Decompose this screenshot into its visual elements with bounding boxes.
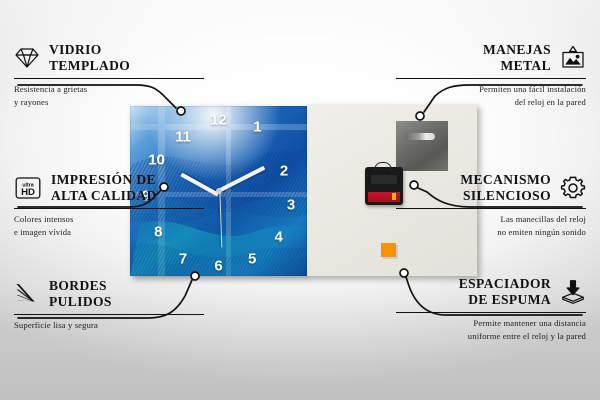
callout-manejas-metal: MANEJAS METAL Permiten una fácil instala… (396, 42, 586, 108)
callout-title-line2: PULIDOS (49, 294, 112, 310)
callout-espaciador-espuma: ESPACIADOR DE ESPUMA Permite mantener un… (396, 276, 586, 342)
callout-title-line1: MECANISMO (460, 172, 551, 188)
callout-header: ESPACIADOR DE ESPUMA (396, 276, 586, 308)
callout-desc-line1: Permite mantener una distancia (396, 317, 586, 329)
callout-mecanismo-silencioso: MECANISMO SILENCIOSO Las manecillas del … (396, 172, 586, 238)
callout-header: MECANISMO SILENCIOSO (396, 172, 586, 204)
callout-title-line1: VIDRIO (49, 42, 130, 58)
ultra-hd-icon: ultra HD (14, 175, 42, 201)
callout-divider (396, 208, 586, 210)
callout-header: ultra HD IMPRESIÓN DE ALTA CALIDAD (14, 172, 204, 204)
callout-desc-line2: no emiten ningún sonido (396, 226, 586, 238)
callout-title-line2: TEMPLADO (49, 58, 130, 74)
callout-header: VIDRIO TEMPLADO (14, 42, 204, 74)
callout-desc-line2: e imagen vívida (14, 226, 204, 238)
callout-desc-line2: y rayones (14, 96, 204, 108)
callout-desc-line2: uniforme entre el reloj y la pared (396, 330, 586, 342)
callout-desc-line1: Las manecillas del reloj (396, 213, 586, 225)
ultra-hd-icon-large-text: HD (21, 187, 35, 198)
callout-title-line1: BORDES (49, 278, 112, 294)
callout-title-line2: DE ESPUMA (459, 292, 551, 308)
callout-title-line1: MANEJAS (483, 42, 551, 58)
callout-title-line2: METAL (483, 58, 551, 74)
callout-title-line1: ESPACIADOR (459, 276, 551, 292)
callout-desc-line1: Superficie lisa y segura (14, 319, 204, 331)
callout-header: MANEJAS METAL (396, 42, 586, 74)
callout-desc-line1: Permiten una fácil instalación (396, 83, 586, 95)
foam-spacer-arrow-icon (560, 279, 586, 305)
polished-edges-icon (14, 281, 40, 307)
callout-divider (14, 78, 204, 80)
callout-desc-line1: Resistencia a grietas (14, 83, 204, 95)
callout-title-line2: SILENCIOSO (460, 188, 551, 204)
callout-header: BORDES PULIDOS (14, 278, 204, 310)
callout-impresion-alta-calidad: ultra HD IMPRESIÓN DE ALTA CALIDAD Color… (14, 172, 204, 238)
infographic-canvas: 12 1 2 3 4 5 6 7 8 9 10 11 (0, 0, 600, 400)
callout-title-line1: IMPRESIÓN DE (51, 172, 157, 188)
leader-dot-vidrio (177, 107, 185, 115)
leader-dot-manejas (416, 112, 424, 120)
callout-vidrio-templado: VIDRIO TEMPLADO Resistencia a grietas y … (14, 42, 204, 108)
callout-title-line2: ALTA CALIDAD (51, 188, 157, 204)
picture-frame-hanger-icon (560, 45, 586, 71)
callout-divider (14, 314, 204, 316)
callout-desc-line2: del reloj en la pared (396, 96, 586, 108)
callout-desc-line1: Colores intensos (14, 213, 204, 225)
diamond-icon (14, 45, 40, 71)
callout-bordes-pulidos: BORDES PULIDOS Superficie lisa y segura (14, 278, 204, 332)
callout-divider (396, 78, 586, 80)
callout-divider (14, 208, 204, 210)
gear-icon (560, 175, 586, 201)
callout-divider (396, 312, 586, 314)
